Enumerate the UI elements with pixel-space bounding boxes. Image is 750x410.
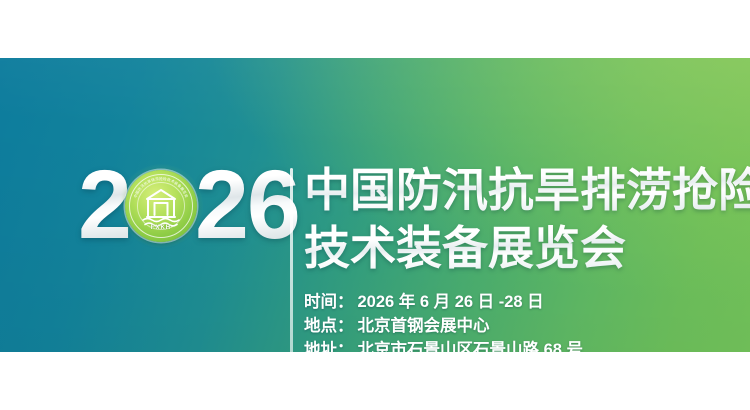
flood-control-gate-emblem-icon: 中国防汛抗旱排涝抢险技术装备展览会 [125, 170, 197, 242]
event-venue-value: 北京首钢会展中心 [358, 314, 490, 338]
event-venue-label: 地点： [304, 314, 354, 338]
banner-gradient-background: 2 中国防汛抗旱排涝抢险技术装备展览会 [0, 58, 750, 352]
event-date: 时间： 2026 年 6 月 26 日 -28 日 [304, 290, 750, 314]
event-title-line-1: 中国防汛抗旱排涝抢险 [304, 162, 750, 218]
year-digit-suffix: 26 [195, 156, 299, 253]
banner-text-block: 中国防汛抗旱排涝抢险 技术装备展览会 时间： 2026 年 6 月 26 日 -… [304, 162, 750, 352]
vertical-divider [290, 168, 293, 352]
emblem-gate-waves-icon [125, 170, 197, 242]
event-date-value: 2026 年 6 月 26 日 -28 日 [358, 290, 544, 314]
event-title-line-2: 技术装备展览会 [304, 220, 750, 276]
emblem-abbreviation: FXKH [125, 225, 197, 231]
event-address: 地址： 北京市石景山区石景山路 68 号 [304, 338, 750, 352]
event-venue: 地点： 北京首钢会展中心 [304, 314, 750, 338]
event-details-list: 时间： 2026 年 6 月 26 日 -28 日 地点： 北京首钢会展中心 地… [304, 290, 750, 352]
emblem-disc: 中国防汛抗旱排涝抢险技术装备展览会 [125, 170, 197, 242]
event-address-label: 地址： [304, 338, 354, 352]
event-poster: 2 中国防汛抗旱排涝抢险技术装备展览会 [0, 0, 750, 410]
year-lockup: 2 中国防汛抗旱排涝抢险技术装备展览会 [78, 156, 288, 252]
event-date-label: 时间： [304, 290, 354, 314]
event-address-value: 北京市石景山区石景山路 68 号 [358, 338, 584, 352]
